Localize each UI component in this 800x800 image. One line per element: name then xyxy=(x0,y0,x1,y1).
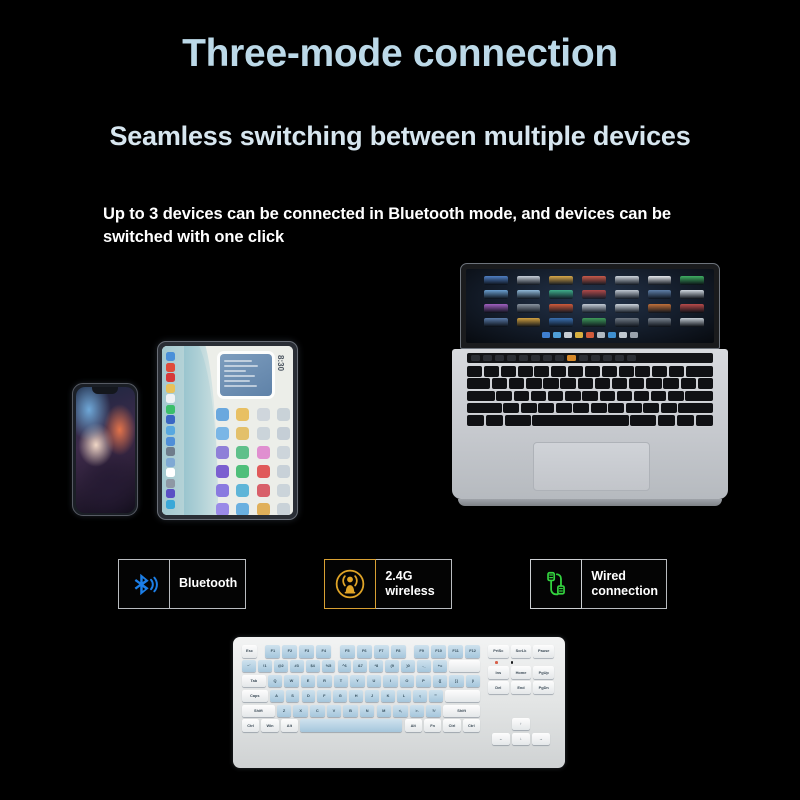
tablet-dock-icon[interactable] xyxy=(166,489,175,498)
keycap-d[interactable]: D xyxy=(302,690,316,703)
tablet-app-icon[interactable] xyxy=(236,484,249,497)
keycap-shift[interactable]: Shift xyxy=(443,705,480,718)
tablet-screen: 8:30 xyxy=(162,346,293,515)
keyboard-row: ShiftZXCVBNM<,>.?/Shift xyxy=(242,705,480,718)
keyboard-nav-block[interactable]: PrtScScrLkPauseInsHomePgUpDelEndPgDn↑←↓→ xyxy=(488,645,554,745)
laptop-key-row xyxy=(467,366,713,377)
keycap-7[interactable]: &7 xyxy=(353,660,367,673)
keyboard-led-indicators xyxy=(488,660,554,667)
keyboard-row: InsHomePgUp xyxy=(488,666,554,679)
tablet-dock-icon[interactable] xyxy=(166,437,175,446)
tablet-dock-icon[interactable] xyxy=(166,426,175,435)
keycap-0[interactable]: )0 xyxy=(401,660,415,673)
keyboard-row: EscF1F2F3F4F5F6F7F8F9F10F11F12 xyxy=(242,645,480,658)
keycap-h[interactable]: H xyxy=(349,690,363,703)
keycap-5[interactable]: %5 xyxy=(322,660,336,673)
tablet-app-icon[interactable] xyxy=(257,503,270,515)
keycap-m[interactable]: M xyxy=(377,705,392,718)
tablet-app-icon[interactable] xyxy=(216,503,229,515)
laptop-app-icon[interactable] xyxy=(680,304,704,313)
keycap-home[interactable]: Home xyxy=(511,666,532,679)
touch-bar-key[interactable] xyxy=(531,355,540,361)
laptop-dock-icon[interactable] xyxy=(542,332,550,338)
keyboard-row: ↑ xyxy=(488,718,554,731)
laptop-screen xyxy=(466,269,714,343)
keyboard-row: DelEndPgDn xyxy=(488,681,554,694)
laptop-dock-icon[interactable] xyxy=(630,332,638,338)
keyboard-row: CapsASDFGHJKL:;"' xyxy=(242,690,480,703)
laptop-app-icon[interactable] xyxy=(648,290,672,299)
laptop-app-icon[interactable] xyxy=(582,290,606,299)
keycap-p[interactable]: P xyxy=(416,675,430,688)
laptop-app-icon[interactable] xyxy=(517,318,541,327)
keycap-1[interactable]: !1 xyxy=(258,660,272,673)
keycap-v[interactable]: V xyxy=(327,705,342,718)
tablet-wave-shape-2 xyxy=(184,346,218,515)
bluetooth-icon-cell xyxy=(118,559,170,609)
mode-label-24g-wireless: 2.4G wireless xyxy=(376,559,452,609)
keycap-[interactable]: → xyxy=(532,733,550,746)
keycap-k[interactable]: K xyxy=(381,690,395,703)
tablet-dock-icon[interactable] xyxy=(166,415,175,424)
keycap-[interactable]: <, xyxy=(393,705,408,718)
laptop-keyboard[interactable] xyxy=(467,366,713,426)
tablet-app-icon[interactable] xyxy=(236,503,249,515)
keycap-f[interactable]: F xyxy=(317,690,331,703)
keycap-esc[interactable]: Esc xyxy=(242,645,257,658)
keycap-ctrl[interactable]: Ctrl xyxy=(242,719,259,732)
tablet-app-icon[interactable] xyxy=(257,465,270,478)
keycap-[interactable]: "' xyxy=(429,690,443,703)
tablet-dock-icon[interactable] xyxy=(166,384,175,393)
laptop-app-icon[interactable] xyxy=(582,318,606,327)
keycap-3[interactable]: #3 xyxy=(290,660,304,673)
laptop-base xyxy=(452,349,728,499)
touch-bar-key[interactable] xyxy=(627,355,636,361)
keycap-f7[interactable]: F7 xyxy=(374,645,389,658)
keycap-ctrl[interactable]: Ctrl xyxy=(463,719,480,732)
keycap-f3[interactable]: F3 xyxy=(299,645,314,658)
laptop-dock-icon[interactable] xyxy=(575,332,583,338)
tablet-app-icon[interactable] xyxy=(216,427,229,440)
keycap-fn[interactable]: Fn xyxy=(424,719,441,732)
laptop-dock[interactable] xyxy=(542,332,638,338)
tablet-dock-icon[interactable] xyxy=(166,373,175,382)
tablet-app-icon[interactable] xyxy=(277,484,290,497)
mode-label-wired-line1: Wired xyxy=(591,569,626,583)
touch-bar-key[interactable] xyxy=(555,355,564,361)
laptop-trackpad[interactable] xyxy=(533,442,650,491)
tablet-app-icon[interactable] xyxy=(257,408,270,421)
usb-cable-icon xyxy=(541,569,571,599)
keycap-o[interactable]: O xyxy=(400,675,414,688)
keycap-q[interactable]: Q xyxy=(268,675,282,688)
keyboard-main-block[interactable]: EscF1F2F3F4F5F6F7F8F9F10F11F12~`!1@2#3$4… xyxy=(242,645,480,734)
keycap-b[interactable]: B xyxy=(343,705,358,718)
tablet-dock-icon[interactable] xyxy=(166,479,175,488)
keycap-[interactable]: ?/ xyxy=(426,705,441,718)
keycap-win[interactable]: Win xyxy=(261,719,278,732)
laptop-lid xyxy=(460,263,720,349)
touch-bar-key[interactable] xyxy=(567,355,576,361)
laptop-app-grid[interactable] xyxy=(484,276,704,327)
laptop-dock-icon[interactable] xyxy=(608,332,616,338)
keycap-8[interactable]: *8 xyxy=(369,660,383,673)
keycap-f8[interactable]: F8 xyxy=(391,645,406,658)
keyboard-arrow-cluster[interactable]: ↑←↓→ xyxy=(488,718,554,745)
laptop-base-edge xyxy=(458,499,722,506)
tablet-dock-icon[interactable] xyxy=(166,363,175,372)
keycap-c[interactable]: C xyxy=(310,705,325,718)
laptop-app-icon[interactable] xyxy=(680,318,704,327)
touch-bar-key[interactable] xyxy=(603,355,612,361)
keycap-[interactable]: ← xyxy=(492,733,510,746)
keyboard-led xyxy=(511,661,514,664)
keycap-f4[interactable]: F4 xyxy=(316,645,331,658)
mode-badge-wired[interactable]: Wired connection xyxy=(530,559,667,609)
keycap-y[interactable]: Y xyxy=(350,675,364,688)
keycap-r[interactable]: R xyxy=(317,675,331,688)
keycap-alt[interactable]: Alt xyxy=(281,719,298,732)
keycap-f1[interactable]: F1 xyxy=(265,645,280,658)
laptop-dock-icon[interactable] xyxy=(597,332,605,338)
keycap-[interactable]: }] xyxy=(449,675,463,688)
keycap-pgdn[interactable]: PgDn xyxy=(533,681,554,694)
body-copy: Up to 3 devices can be connected in Blue… xyxy=(103,203,703,250)
tablet-app-icon[interactable] xyxy=(216,465,229,478)
smartphone-device xyxy=(72,383,138,516)
keycap-f12[interactable]: F12 xyxy=(465,645,480,658)
laptop-dock-icon[interactable] xyxy=(586,332,594,338)
keycap-[interactable]: ↓ xyxy=(512,733,530,746)
keycap-prtsc[interactable]: PrtSc xyxy=(488,645,509,658)
laptop-key-row xyxy=(467,391,713,402)
laptop-app-icon[interactable] xyxy=(615,318,639,327)
tablet-dock-icon[interactable] xyxy=(166,352,175,361)
keycap-f2[interactable]: F2 xyxy=(282,645,297,658)
keycap-u[interactable]: U xyxy=(367,675,381,688)
page-title: Three-mode connection xyxy=(0,33,800,76)
tablet-app-icon[interactable] xyxy=(216,408,229,421)
laptop-app-icon[interactable] xyxy=(549,290,573,299)
keycap-w[interactable]: W xyxy=(284,675,298,688)
tablet-app-icon[interactable] xyxy=(257,427,270,440)
laptop-app-icon[interactable] xyxy=(582,304,606,313)
keycap-f5[interactable]: F5 xyxy=(340,645,355,658)
tablet-app-icon[interactable] xyxy=(277,465,290,478)
phone-screen xyxy=(76,387,135,513)
keycap-[interactable]: ~` xyxy=(242,660,256,673)
laptop-app-icon[interactable] xyxy=(517,304,541,313)
keyboard-row: TabQWERTYUIOP{[}]|\ xyxy=(242,675,480,688)
touch-bar-key[interactable] xyxy=(579,355,588,361)
keycap-z[interactable]: Z xyxy=(277,705,292,718)
tablet-app-icon[interactable] xyxy=(236,465,249,478)
mode-label-bluetooth: Bluetooth xyxy=(170,559,246,609)
laptop-app-icon[interactable] xyxy=(549,304,573,313)
keycap-t[interactable]: T xyxy=(334,675,348,688)
tablet-app-grid[interactable] xyxy=(216,408,292,515)
keycap-del[interactable]: Del xyxy=(488,681,509,694)
connection-modes: Bluetooth 2.4G wireless xyxy=(118,559,667,609)
laptop-app-icon[interactable] xyxy=(615,276,639,285)
radio-wave-icon-cell xyxy=(324,559,376,609)
keyboard-row: CtrlWinAltAltFnCtrlCtrl xyxy=(242,719,480,732)
laptop-app-icon[interactable] xyxy=(484,304,508,313)
keycap-2[interactable]: @2 xyxy=(274,660,288,673)
keycap-e[interactable]: E xyxy=(301,675,315,688)
tablet-app-icon[interactable] xyxy=(277,446,290,459)
keycap-a[interactable]: A xyxy=(270,690,284,703)
keycap-[interactable]: :; xyxy=(413,690,427,703)
laptop-app-icon[interactable] xyxy=(484,318,508,327)
keycap-[interactable]: += xyxy=(433,660,447,673)
laptop-app-icon[interactable] xyxy=(517,276,541,285)
tablet-dock-icon[interactable] xyxy=(166,447,175,456)
keycap-ctrl[interactable]: Ctrl xyxy=(443,719,460,732)
laptop-touch-bar[interactable] xyxy=(467,353,713,363)
keycap-f11[interactable]: F11 xyxy=(448,645,463,658)
touch-bar-key[interactable] xyxy=(495,355,504,361)
radio-wave-icon xyxy=(334,568,366,600)
keycap-f6[interactable]: F6 xyxy=(357,645,372,658)
mechanical-keyboard[interactable]: EscF1F2F3F4F5F6F7F8F9F10F11F12~`!1@2#3$4… xyxy=(233,637,565,768)
tablet-device: 8:30 xyxy=(157,341,298,520)
keycap-9[interactable]: (9 xyxy=(385,660,399,673)
keycap-pause[interactable]: Pause xyxy=(533,645,554,658)
marketing-banner: Three-mode connection Seamless switching… xyxy=(0,0,800,800)
laptop-app-icon[interactable] xyxy=(484,290,508,299)
laptop-app-icon[interactable] xyxy=(549,276,573,285)
keycap-g[interactable]: G xyxy=(333,690,347,703)
tablet-app-icon[interactable] xyxy=(277,503,290,515)
laptop-key-row xyxy=(467,415,713,426)
keycap-shift[interactable]: Shift xyxy=(242,705,275,718)
mode-label-wired-line2: connection xyxy=(591,584,658,598)
keycap-f10[interactable]: F10 xyxy=(431,645,446,658)
tablet-app-icon[interactable] xyxy=(257,484,270,497)
tablet-dock-icon[interactable] xyxy=(166,394,175,403)
phone-wallpaper xyxy=(76,387,135,513)
keycap-scrlk[interactable]: ScrLk xyxy=(511,645,532,658)
laptop-app-icon[interactable] xyxy=(517,290,541,299)
laptop-device xyxy=(452,263,728,533)
keycap-6[interactable]: ^6 xyxy=(338,660,352,673)
tablet-app-icon[interactable] xyxy=(236,408,249,421)
tablet-dock-icon[interactable] xyxy=(166,500,175,509)
touch-bar-key[interactable] xyxy=(591,355,600,361)
tablet-app-icon[interactable] xyxy=(277,427,290,440)
keycap-[interactable]: >. xyxy=(410,705,425,718)
tablet-app-icon[interactable] xyxy=(236,427,249,440)
keyboard-row: ←↓→ xyxy=(488,733,554,746)
keycap-n[interactable]: N xyxy=(360,705,375,718)
keycap-caps[interactable]: Caps xyxy=(242,690,268,703)
touch-bar-key[interactable] xyxy=(507,355,516,361)
keyboard-row: ~`!1@2#3$4%5^6&7*8(9)0-_+= xyxy=(242,660,480,673)
tablet-clock: 8:30 xyxy=(276,355,285,371)
keycap-l[interactable]: L xyxy=(397,690,411,703)
tablet-dock-icon[interactable] xyxy=(166,405,175,414)
mode-label-24g-line1: 2.4G xyxy=(385,569,412,583)
laptop-dock-icon[interactable] xyxy=(553,332,561,338)
tablet-app-icon[interactable] xyxy=(216,446,229,459)
keycap-[interactable]: -_ xyxy=(417,660,431,673)
laptop-key-row xyxy=(467,378,713,389)
laptop-app-icon[interactable] xyxy=(549,318,573,327)
keyboard-row: PrtScScrLkPause xyxy=(488,645,554,658)
laptop-dock-icon[interactable] xyxy=(564,332,572,338)
mode-badge-24g-wireless[interactable]: 2.4G wireless xyxy=(324,559,452,609)
tablet-dock[interactable] xyxy=(164,350,176,511)
touch-bar-key[interactable] xyxy=(519,355,528,361)
tablet-app-icon[interactable] xyxy=(277,408,290,421)
keycap-alt[interactable]: Alt xyxy=(405,719,422,732)
phone-notch xyxy=(92,387,118,394)
keycap-4[interactable]: $4 xyxy=(306,660,320,673)
touch-bar-key[interactable] xyxy=(543,355,552,361)
laptop-key-row xyxy=(467,403,713,414)
keycap-end[interactable]: End xyxy=(511,681,532,694)
laptop-dock-icon[interactable] xyxy=(619,332,627,338)
keycap-f9[interactable]: F9 xyxy=(414,645,429,658)
touch-bar-key[interactable] xyxy=(615,355,624,361)
tablet-widget[interactable] xyxy=(220,354,272,396)
laptop-app-icon[interactable] xyxy=(615,304,639,313)
touch-bar-key[interactable] xyxy=(483,355,492,361)
keycap-[interactable]: |\ xyxy=(466,675,480,688)
keycap-x[interactable]: X xyxy=(293,705,308,718)
laptop-app-icon[interactable] xyxy=(582,276,606,285)
keycap[interactable] xyxy=(300,719,402,732)
keycap-pgup[interactable]: PgUp xyxy=(533,666,554,679)
keycap-j[interactable]: J xyxy=(365,690,379,703)
keycap-[interactable]: {[ xyxy=(433,675,447,688)
laptop-app-icon[interactable] xyxy=(680,276,704,285)
keycap-tab[interactable]: Tab xyxy=(242,675,266,688)
tablet-app-icon[interactable] xyxy=(257,446,270,459)
keyboard-led xyxy=(495,661,498,664)
laptop-app-icon[interactable] xyxy=(680,290,704,299)
mode-badge-bluetooth[interactable]: Bluetooth xyxy=(118,559,246,609)
touch-bar-key[interactable] xyxy=(471,355,480,361)
tablet-dock-icon[interactable] xyxy=(166,458,175,467)
tablet-app-icon[interactable] xyxy=(236,446,249,459)
laptop-app-icon[interactable] xyxy=(615,290,639,299)
mode-label-wired: Wired connection xyxy=(582,559,667,609)
laptop-app-icon[interactable] xyxy=(648,318,672,327)
keycap-s[interactable]: S xyxy=(286,690,300,703)
laptop-app-icon[interactable] xyxy=(648,276,672,285)
tablet-app-icon[interactable] xyxy=(216,484,229,497)
usb-cable-icon-cell xyxy=(530,559,582,609)
laptop-app-icon[interactable] xyxy=(484,276,508,285)
keyboard-nav-spacer xyxy=(488,696,554,709)
keycap-ins[interactable]: Ins xyxy=(488,666,509,679)
bluetooth-icon xyxy=(129,569,159,599)
laptop-app-icon[interactable] xyxy=(648,304,672,313)
mode-label-24g-line2: wireless xyxy=(385,584,434,598)
page-subtitle: Seamless switching between multiple devi… xyxy=(0,121,800,152)
keycap-[interactable]: ↑ xyxy=(512,718,530,731)
tablet-dock-icon[interactable] xyxy=(166,468,175,477)
keycap[interactable] xyxy=(449,660,480,673)
keycap-i[interactable]: I xyxy=(383,675,397,688)
keycap[interactable] xyxy=(445,690,480,703)
